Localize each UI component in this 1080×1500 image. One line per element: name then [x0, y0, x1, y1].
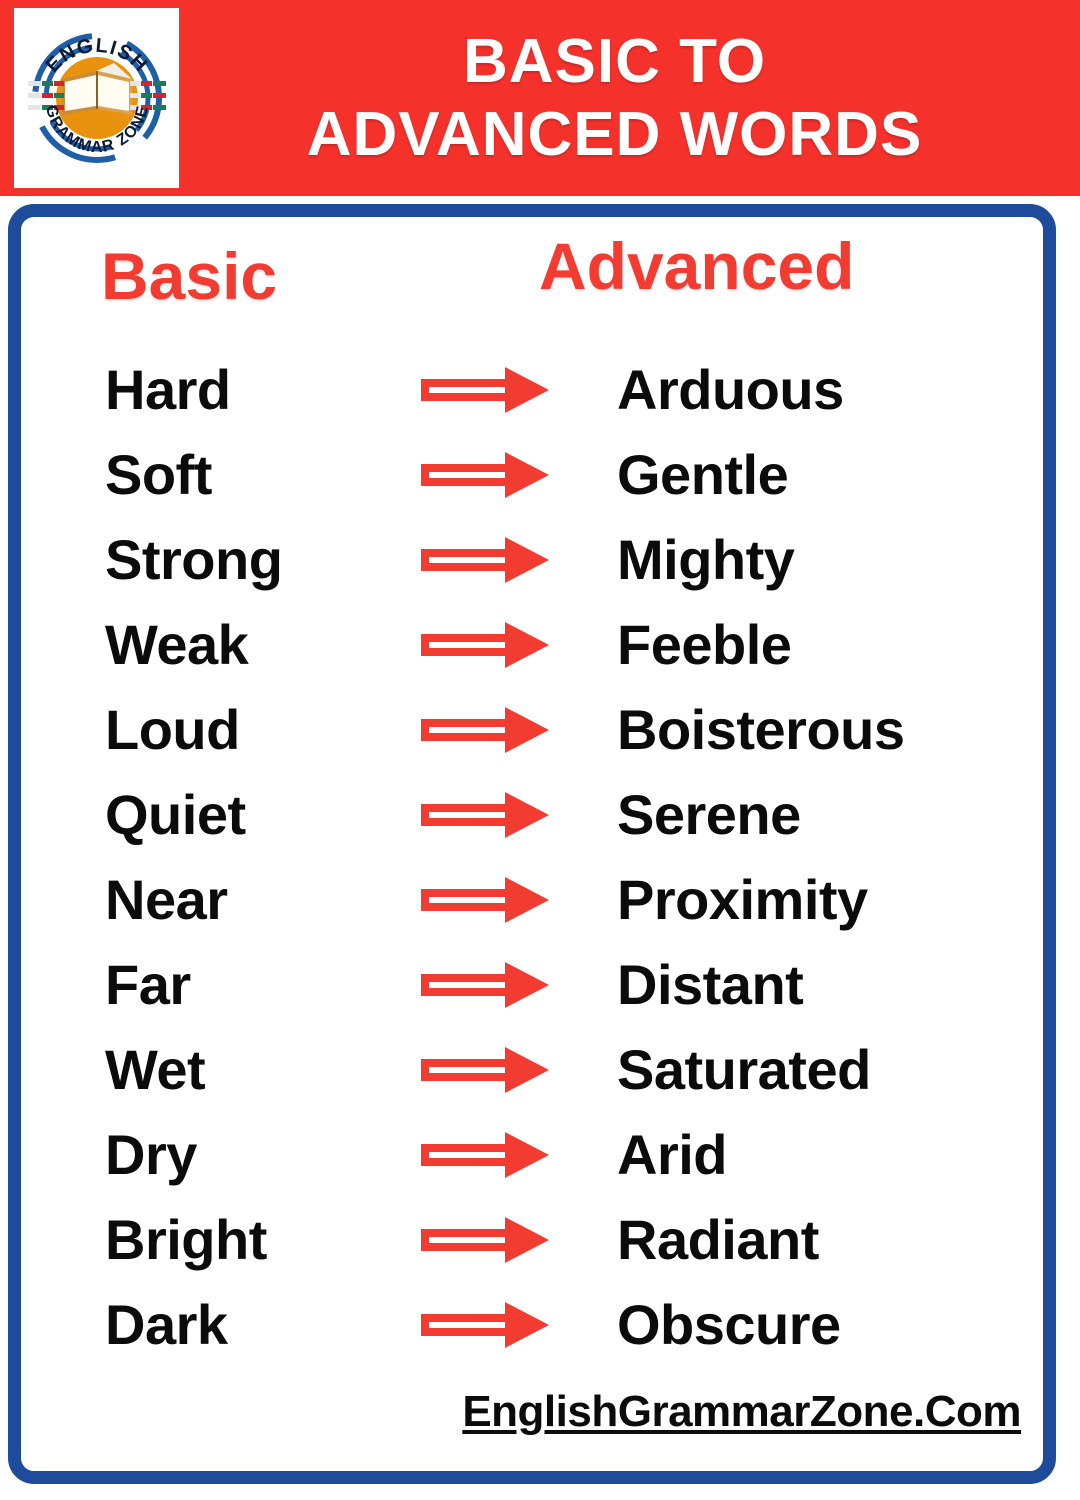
right-arrow-icon	[419, 619, 551, 671]
arrow-cell	[419, 1044, 569, 1096]
word-list-card: Basic Advanced Hard ArduousSoft GentleSt…	[8, 204, 1056, 1484]
arrow-cell	[419, 789, 569, 841]
basic-word: Soft	[105, 447, 212, 503]
right-arrow-icon	[419, 1299, 551, 1351]
advanced-word: Radiant	[617, 1212, 819, 1268]
right-arrow-icon	[419, 534, 551, 586]
advanced-word: Mighty	[617, 532, 794, 588]
page-title: BASIC TO ADVANCED WORDS	[179, 25, 1080, 171]
site-url-footer: EnglishGrammarZone.Com	[462, 1387, 1021, 1437]
word-pair-row: Quiet Serene	[21, 772, 1043, 857]
column-heading-basic: Basic	[101, 243, 277, 309]
word-pair-row: Soft Gentle	[21, 432, 1043, 517]
page-title-line1: BASIC TO	[179, 25, 1050, 98]
header-banner: ENGLISH GRAMMAR ZONE BASIC TO ADVANCED W…	[0, 0, 1080, 196]
right-arrow-icon	[419, 959, 551, 1011]
arrow-cell	[419, 1299, 569, 1351]
advanced-word: Saturated	[617, 1042, 871, 1098]
word-pair-row: Weak Feeble	[21, 602, 1043, 687]
basic-word: Near	[105, 872, 228, 928]
arrow-cell	[419, 1214, 569, 1266]
arrow-cell	[419, 449, 569, 501]
word-pair-row: Bright Radiant	[21, 1197, 1043, 1282]
right-arrow-icon	[419, 449, 551, 501]
advanced-word: Feeble	[617, 617, 791, 673]
advanced-word: Boisterous	[617, 702, 905, 758]
basic-word: Dry	[105, 1127, 197, 1183]
word-pair-row: Dark Obscure	[21, 1282, 1043, 1367]
page-title-line2: ADVANCED WORDS	[179, 98, 1050, 171]
arrow-cell	[419, 1129, 569, 1181]
arrow-cell	[419, 959, 569, 1011]
word-pair-row: Strong Mighty	[21, 517, 1043, 602]
advanced-word: Obscure	[617, 1297, 841, 1353]
advanced-word: Gentle	[617, 447, 788, 503]
column-headings: Basic Advanced	[21, 225, 1043, 321]
basic-word: Quiet	[105, 787, 246, 843]
word-pair-row: Far Distant	[21, 942, 1043, 1027]
english-grammar-zone-logo-icon: ENGLISH GRAMMAR ZONE	[22, 23, 172, 173]
right-arrow-icon	[419, 1129, 551, 1181]
basic-word: Dark	[105, 1297, 228, 1353]
right-arrow-icon	[419, 1044, 551, 1096]
basic-word: Weak	[105, 617, 248, 673]
advanced-word: Distant	[617, 957, 803, 1013]
basic-word: Loud	[105, 702, 240, 758]
word-pair-row: Dry Arid	[21, 1112, 1043, 1197]
right-arrow-icon	[419, 704, 551, 756]
word-pair-row: Loud Boisterous	[21, 687, 1043, 772]
basic-word: Wet	[105, 1042, 205, 1098]
right-arrow-icon	[419, 364, 551, 416]
column-heading-advanced: Advanced	[539, 233, 854, 299]
word-pair-row: Wet Saturated	[21, 1027, 1043, 1112]
arrow-cell	[419, 704, 569, 756]
basic-word: Bright	[105, 1212, 267, 1268]
right-arrow-icon	[419, 874, 551, 926]
right-arrow-icon	[419, 1214, 551, 1266]
arrow-cell	[419, 364, 569, 416]
word-pair-list: Hard ArduousSoft GentleStrong MightyWeak…	[21, 347, 1043, 1367]
word-pair-row: Near Proximity	[21, 857, 1043, 942]
word-pair-row: Hard Arduous	[21, 347, 1043, 432]
basic-word: Hard	[105, 362, 231, 418]
arrow-cell	[419, 534, 569, 586]
right-arrow-icon	[419, 789, 551, 841]
basic-word: Far	[105, 957, 191, 1013]
advanced-word: Arduous	[617, 362, 844, 418]
advanced-word: Proximity	[617, 872, 868, 928]
arrow-cell	[419, 874, 569, 926]
basic-word: Strong	[105, 532, 282, 588]
arrow-cell	[419, 619, 569, 671]
advanced-word: Arid	[617, 1127, 727, 1183]
logo-container: ENGLISH GRAMMAR ZONE	[14, 8, 179, 188]
advanced-word: Serene	[617, 787, 801, 843]
